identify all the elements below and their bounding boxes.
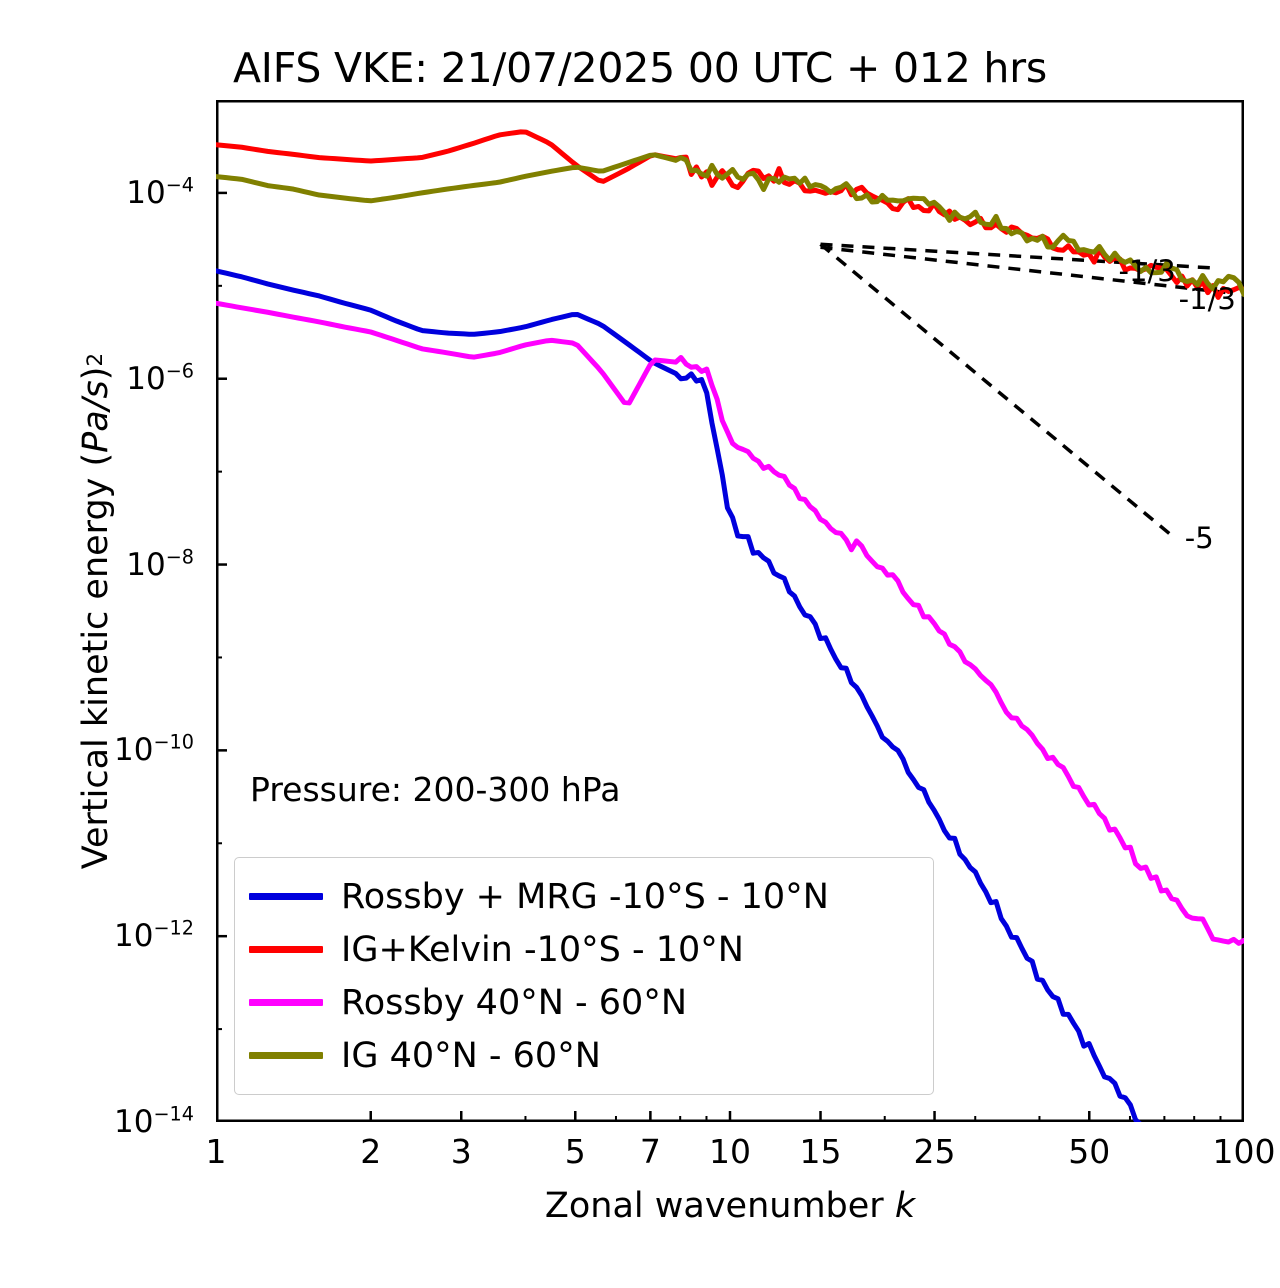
y-axis-tick-label: 10−6 xyxy=(126,361,194,397)
legend-item[interactable]: IG 40°N - 60°N xyxy=(249,1029,917,1082)
y-tick-exponent: −4 xyxy=(166,174,194,197)
x-axis-tick-label: 10 xyxy=(709,1132,751,1171)
legend-item-label: Rossby + MRG -10°S - 10°N xyxy=(341,877,829,917)
legend-item-label: IG 40°N - 60°N xyxy=(341,1036,601,1076)
y-axis-tick-label: 10−14 xyxy=(114,1104,194,1140)
y-tick-mantissa: 10 xyxy=(126,361,165,397)
y-axis-label-suffix: ) xyxy=(76,367,116,381)
y-tick-exponent: −6 xyxy=(166,359,194,382)
legend-color-swatch xyxy=(249,893,323,900)
y-tick-exponent: −12 xyxy=(153,917,194,940)
y-axis-label-prefix: Vertical kinetic energy ( xyxy=(76,453,116,869)
series-line xyxy=(216,303,1244,943)
y-axis-tick-label: 10−4 xyxy=(126,175,194,211)
legend-item[interactable]: IG+Kelvin -10°S - 10°N xyxy=(249,923,917,976)
y-tick-mantissa: 10 xyxy=(114,1104,153,1140)
slope-label: -1/3 xyxy=(1119,254,1176,288)
y-axis-label-units: Pa/s xyxy=(76,380,116,453)
y-tick-mantissa: 10 xyxy=(126,175,165,211)
legend-item-label: IG+Kelvin -10°S - 10°N xyxy=(341,930,744,970)
x-axis-label-prefix: Zonal wavenumber xyxy=(545,1186,895,1226)
y-tick-exponent: −10 xyxy=(153,731,194,754)
x-axis-tick-label: 5 xyxy=(565,1132,586,1171)
x-axis-tick-label: 1 xyxy=(206,1132,227,1171)
y-axis-label: Vertical kinetic energy (Pa/s)2 xyxy=(64,100,128,1122)
chart-canvas: AIFS VKE: 21/07/2025 00 UTC + 012 hrs Ve… xyxy=(0,0,1280,1288)
legend-item[interactable]: Rossby + MRG -10°S - 10°N xyxy=(249,870,917,923)
legend-item[interactable]: Rossby 40°N - 60°N xyxy=(249,976,917,1029)
page-title: AIFS VKE: 21/07/2025 00 UTC + 012 hrs xyxy=(0,44,1280,92)
slope-label: -5 xyxy=(1185,521,1214,555)
annotation-pressure: Pressure: 200-300 hPa xyxy=(250,770,620,809)
legend-color-swatch xyxy=(249,946,323,953)
legend-color-swatch xyxy=(249,1052,323,1059)
y-tick-mantissa: 10 xyxy=(114,732,153,768)
y-axis-tick-label: 10−8 xyxy=(126,547,194,583)
slope-label: -1/3 xyxy=(1179,282,1236,316)
x-axis-tick-label: 15 xyxy=(800,1132,842,1171)
x-axis-tick-label: 100 xyxy=(1213,1132,1276,1171)
x-axis-tick-label: 2 xyxy=(360,1132,381,1171)
x-axis-label: Zonal wavenumber k xyxy=(216,1186,1244,1226)
x-axis-tick-label: 3 xyxy=(451,1132,472,1171)
x-axis-tick-label: 25 xyxy=(914,1132,956,1171)
y-tick-exponent: −14 xyxy=(153,1103,194,1126)
x-axis-tick-label: 50 xyxy=(1068,1132,1110,1171)
legend-color-swatch xyxy=(249,999,323,1006)
series-line xyxy=(216,155,1244,295)
y-axis-tick-label: 10−10 xyxy=(114,732,194,768)
y-tick-mantissa: 10 xyxy=(126,547,165,583)
y-tick-mantissa: 10 xyxy=(114,918,153,954)
series-line xyxy=(216,132,1244,298)
x-axis-tick-label: 7 xyxy=(640,1132,661,1171)
legend-item-label: Rossby 40°N - 60°N xyxy=(341,983,687,1023)
legend[interactable]: Rossby + MRG -10°S - 10°NIG+Kelvin -10°S… xyxy=(234,857,934,1095)
y-axis-tick-label: 10−12 xyxy=(114,918,194,954)
x-axis-label-symbol: k xyxy=(895,1186,915,1226)
y-tick-exponent: −8 xyxy=(166,545,194,568)
